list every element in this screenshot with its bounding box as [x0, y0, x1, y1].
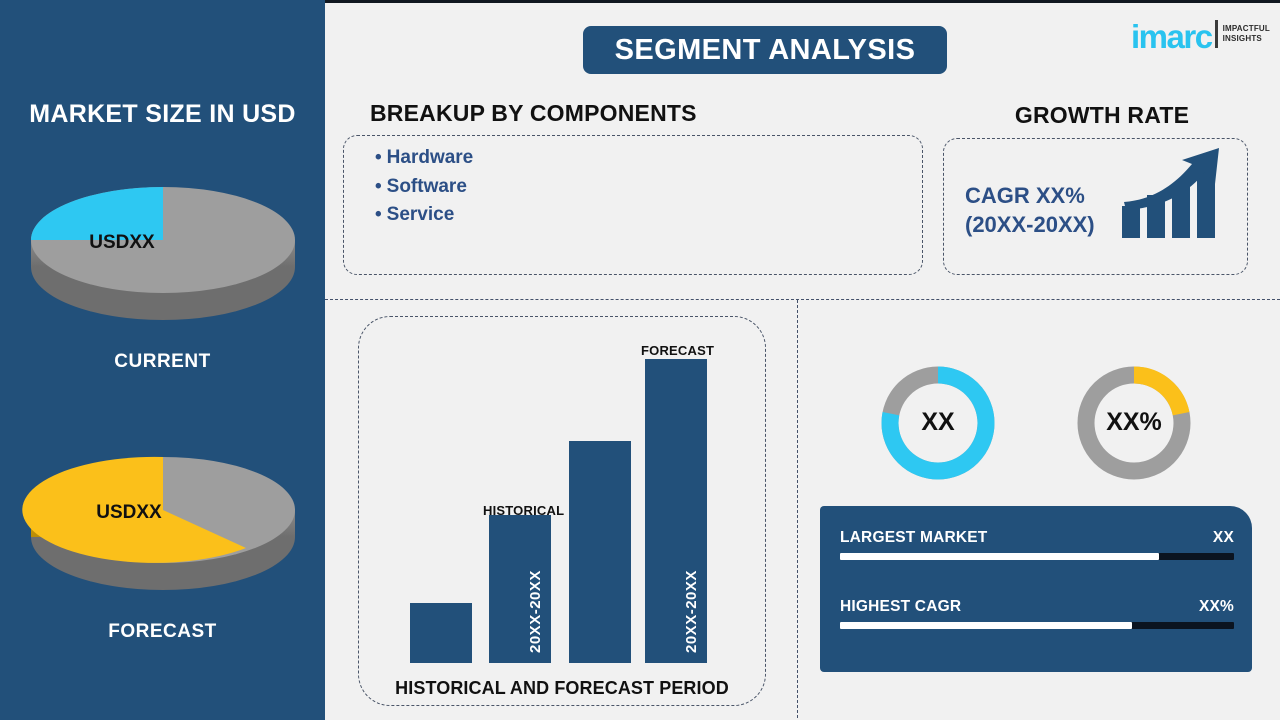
bar-3 — [569, 441, 631, 663]
bullet-icon: • — [375, 176, 382, 197]
donut-highest-cagr: XX% — [1072, 361, 1196, 485]
bullet-icon: • — [375, 147, 382, 168]
cagr-text: CAGR XX% (20XX-20XX) — [965, 181, 1095, 239]
logo-tagline-line1: IMPACTFUL — [1223, 24, 1270, 34]
pie-forecast-label: FORECAST — [0, 621, 325, 643]
donut-largest-market-value: XX — [876, 408, 1000, 437]
logo-tagline: IMPACTFUL INSIGHTS — [1223, 24, 1270, 44]
stat-highest-cagr-track — [840, 622, 1234, 629]
stat-largest-market: LARGEST MARKET XX — [840, 529, 1234, 560]
logo-tagline-line2: INSIGHTS — [1223, 34, 1270, 44]
components-heading: BREAKUP BY COMPONENTS — [370, 100, 697, 127]
vertical-divider — [797, 300, 798, 720]
market-size-sidebar: MARKET SIZE IN USD USDXX CURRENT — [0, 0, 325, 720]
forecast-label: FORECAST — [641, 343, 714, 358]
bullet-icon: • — [375, 204, 382, 225]
list-item: •Hardware — [375, 144, 473, 173]
donut-highest-cagr-value: XX% — [1072, 408, 1196, 437]
pie-current-slice-label: USDXX — [89, 232, 155, 253]
stat-highest-cagr: HIGHEST CAGR XX% — [840, 598, 1234, 629]
component-label: Software — [387, 176, 467, 197]
pie-forecast-slice-label: USDXX — [96, 502, 162, 523]
period-chart-caption: HISTORICAL AND FORECAST PERIOD — [358, 678, 766, 699]
component-label: Hardware — [387, 147, 474, 168]
growth-rate-heading: GROWTH RATE — [943, 102, 1261, 129]
stat-largest-market-value: XX — [1213, 529, 1234, 547]
growth-arrow-chart-icon — [1120, 146, 1225, 241]
component-label: Service — [387, 204, 455, 225]
pie-chart-current: USDXX CURRENT — [0, 155, 325, 373]
stat-highest-cagr-fill — [840, 622, 1132, 629]
page-title: SEGMENT ANALYSIS — [583, 26, 947, 74]
stat-largest-market-label: LARGEST MARKET — [840, 529, 987, 547]
stat-largest-market-track — [840, 553, 1234, 560]
pie-chart-forecast: USDXX FORECAST — [0, 425, 325, 643]
bar-4-label: 20XX-20XX — [683, 570, 700, 653]
sidebar-title: MARKET SIZE IN USD — [0, 100, 325, 129]
list-item: •Software — [375, 173, 473, 202]
infographic-page: MARKET SIZE IN USD USDXX CURRENT — [0, 0, 1280, 720]
pie-current-label: CURRENT — [0, 351, 325, 373]
stat-highest-cagr-label: HIGHEST CAGR — [840, 598, 961, 616]
key-stats-panel: LARGEST MARKET XX HIGHEST CAGR XX% — [820, 506, 1252, 672]
list-item: •Service — [375, 201, 473, 230]
stat-highest-cagr-value: XX% — [1199, 598, 1234, 616]
pie-current-svg: USDXX — [18, 155, 308, 345]
horizontal-divider — [325, 299, 1280, 300]
logo-wordmark: imarc — [1131, 20, 1212, 53]
bar-2-label: 20XX-20XX — [527, 570, 544, 653]
logo-divider-icon — [1215, 20, 1218, 48]
cagr-period: (20XX-20XX) — [965, 210, 1095, 239]
bar-1 — [410, 603, 472, 663]
imarc-logo: imarc IMPACTFUL INSIGHTS — [1131, 13, 1270, 55]
header-band: SEGMENT ANALYSIS imarc IMPACTFUL INSIGHT… — [325, 3, 1280, 95]
stat-largest-market-fill — [840, 553, 1159, 560]
components-list: •Hardware •Software •Service — [375, 144, 473, 230]
historical-label: HISTORICAL — [483, 503, 564, 518]
pie-forecast-svg: USDXX — [18, 425, 308, 615]
donut-largest-market: XX — [876, 361, 1000, 485]
cagr-value: CAGR XX% — [965, 181, 1095, 210]
